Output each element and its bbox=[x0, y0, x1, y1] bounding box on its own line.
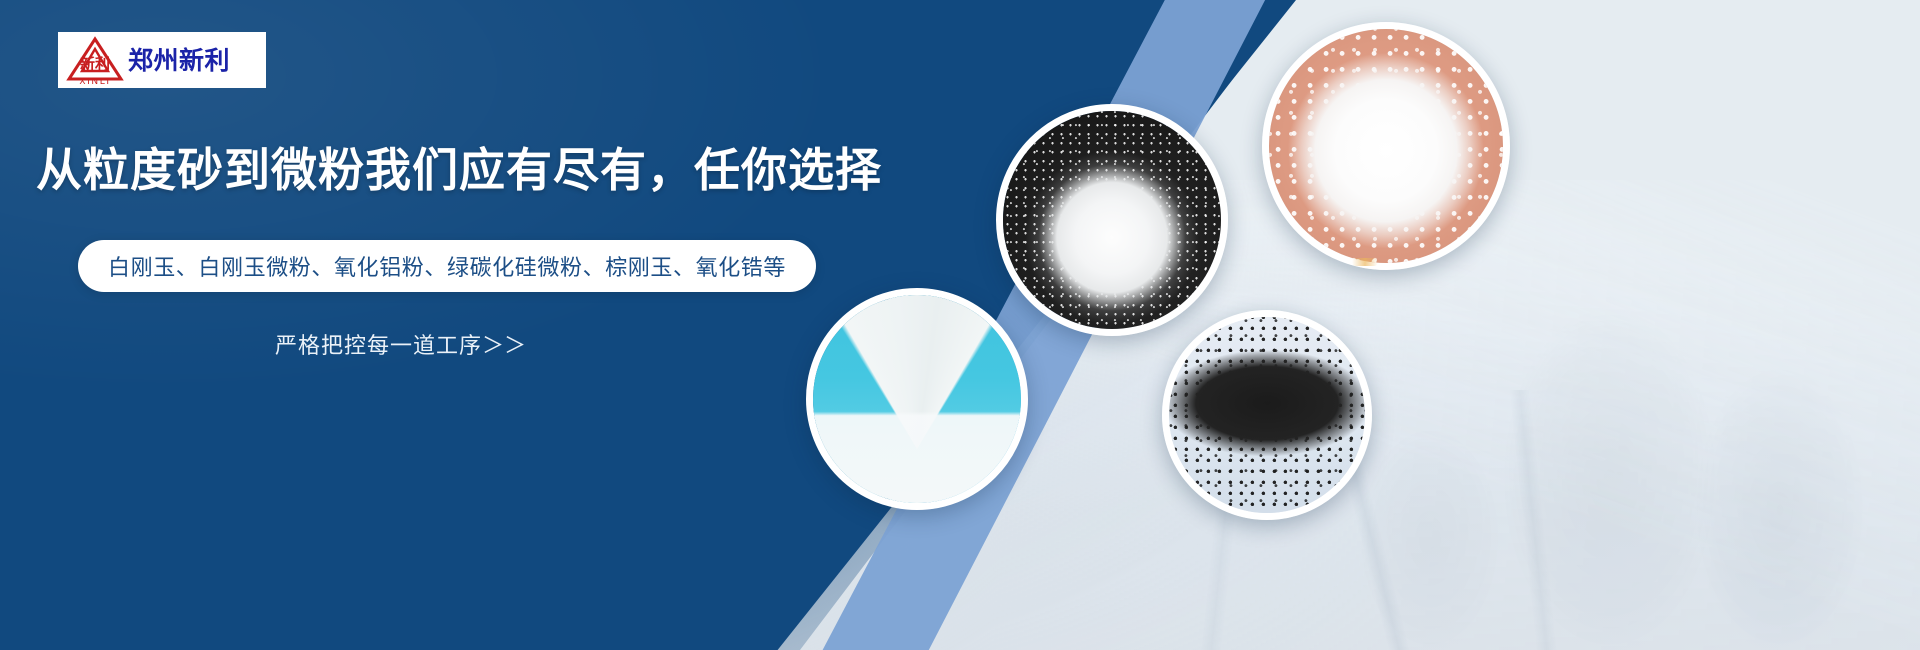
product-list-text: 白刚玉、白刚玉微粉、氧化铝粉、绿碳化硅微粉、棕刚玉、氧化锆等 bbox=[108, 250, 786, 282]
product-image-white-granules bbox=[1003, 111, 1221, 329]
product-circle-white-powder-cone-on-cyan[interactable] bbox=[806, 288, 1028, 510]
process-tagline-text: 严格把控每一道工序 bbox=[275, 334, 482, 359]
xinli-triangle-icon: 新利 XINLI bbox=[66, 35, 124, 85]
product-image-white-powder bbox=[1269, 29, 1503, 263]
product-circle-white-granules-on-black-tray[interactable] bbox=[996, 104, 1228, 336]
warm-glint bbox=[1352, 258, 1378, 266]
svg-text:XINLI: XINLI bbox=[79, 77, 110, 85]
logo-wordmark: 郑州新利 bbox=[128, 48, 230, 73]
svg-text:新利: 新利 bbox=[80, 55, 110, 73]
product-circle-white-powder-on-salmon-dish[interactable] bbox=[1262, 22, 1510, 270]
headline: 从粒度砂到微粉我们应有尽有，任你选择 bbox=[36, 144, 882, 197]
tagline-arrows-icon: ＞＞ bbox=[482, 334, 526, 359]
product-image-powder-cone bbox=[813, 295, 1021, 503]
promo-banner: 新利 XINLI 郑州新利 从粒度砂到微粉我们应有尽有，任你选择 白刚玉、白刚玉… bbox=[0, 0, 1920, 650]
industrial-background-lines bbox=[920, 390, 1920, 650]
product-list-pill: 白刚玉、白刚玉微粉、氧化铝粉、绿碳化硅微粉、棕刚玉、氧化锆等 bbox=[78, 240, 816, 292]
process-tagline[interactable]: 严格把控每一道工序＞＞ bbox=[275, 328, 526, 360]
product-circle-black-grit-on-pale-blue[interactable] bbox=[1162, 310, 1372, 520]
company-logo[interactable]: 新利 XINLI 郑州新利 bbox=[58, 32, 266, 88]
product-image-black-grit bbox=[1169, 317, 1365, 513]
